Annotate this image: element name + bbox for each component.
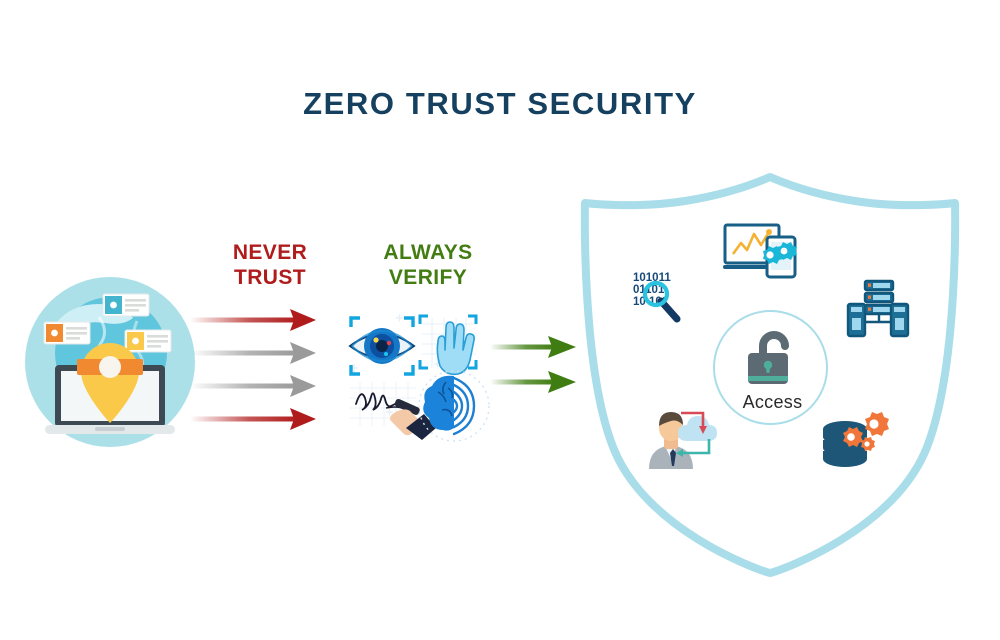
infographic-canvas: ZERO TRUST SECURITY	[0, 0, 1000, 640]
arrow-never-trust-1	[190, 309, 316, 331]
access-badge[interactable]: Access	[713, 310, 828, 425]
never-trust-line1: NEVER	[190, 240, 350, 265]
binary-scan-icon: 101011 01101 10 101	[633, 270, 695, 330]
server-rack-icon	[847, 280, 909, 338]
cloud-user-icon	[643, 407, 717, 469]
arrow-always-verify-2	[490, 371, 576, 393]
arrow-never-trust-2	[190, 342, 316, 364]
always-verify-line1: ALWAYS	[348, 240, 508, 265]
arrow-always-verify-1	[490, 336, 576, 358]
fingerprint-arcs	[454, 378, 474, 434]
arrow-never-trust-3	[190, 375, 316, 397]
notification-card-yellow	[125, 330, 171, 352]
database-gears-icon	[821, 411, 887, 471]
notification-card-teal	[103, 294, 149, 316]
page-title: ZERO TRUST SECURITY	[0, 84, 1000, 124]
always-verify-caption: ALWAYS VERIFY	[348, 240, 508, 290]
security-shield: 101011 01101 10 101	[575, 175, 965, 575]
signature-icon	[350, 382, 436, 440]
biometrics-scene	[342, 312, 502, 442]
notification-card-orange	[44, 322, 90, 344]
never-trust-arrows	[190, 305, 320, 435]
global-access-scene	[25, 277, 195, 447]
open-padlock-icon	[746, 329, 800, 387]
arrow-never-trust-4	[190, 408, 316, 430]
database-icon	[823, 421, 867, 467]
never-trust-line2: TRUST	[190, 265, 350, 290]
always-verify-line2: VERIFY	[348, 265, 508, 290]
always-verify-arrows	[490, 332, 580, 402]
palm-scan-icon	[420, 316, 476, 374]
access-label: Access	[715, 392, 830, 413]
monitor-analytics-icon	[723, 223, 797, 281]
never-trust-caption: NEVER TRUST	[190, 240, 350, 290]
iris-scan-icon	[350, 318, 414, 374]
